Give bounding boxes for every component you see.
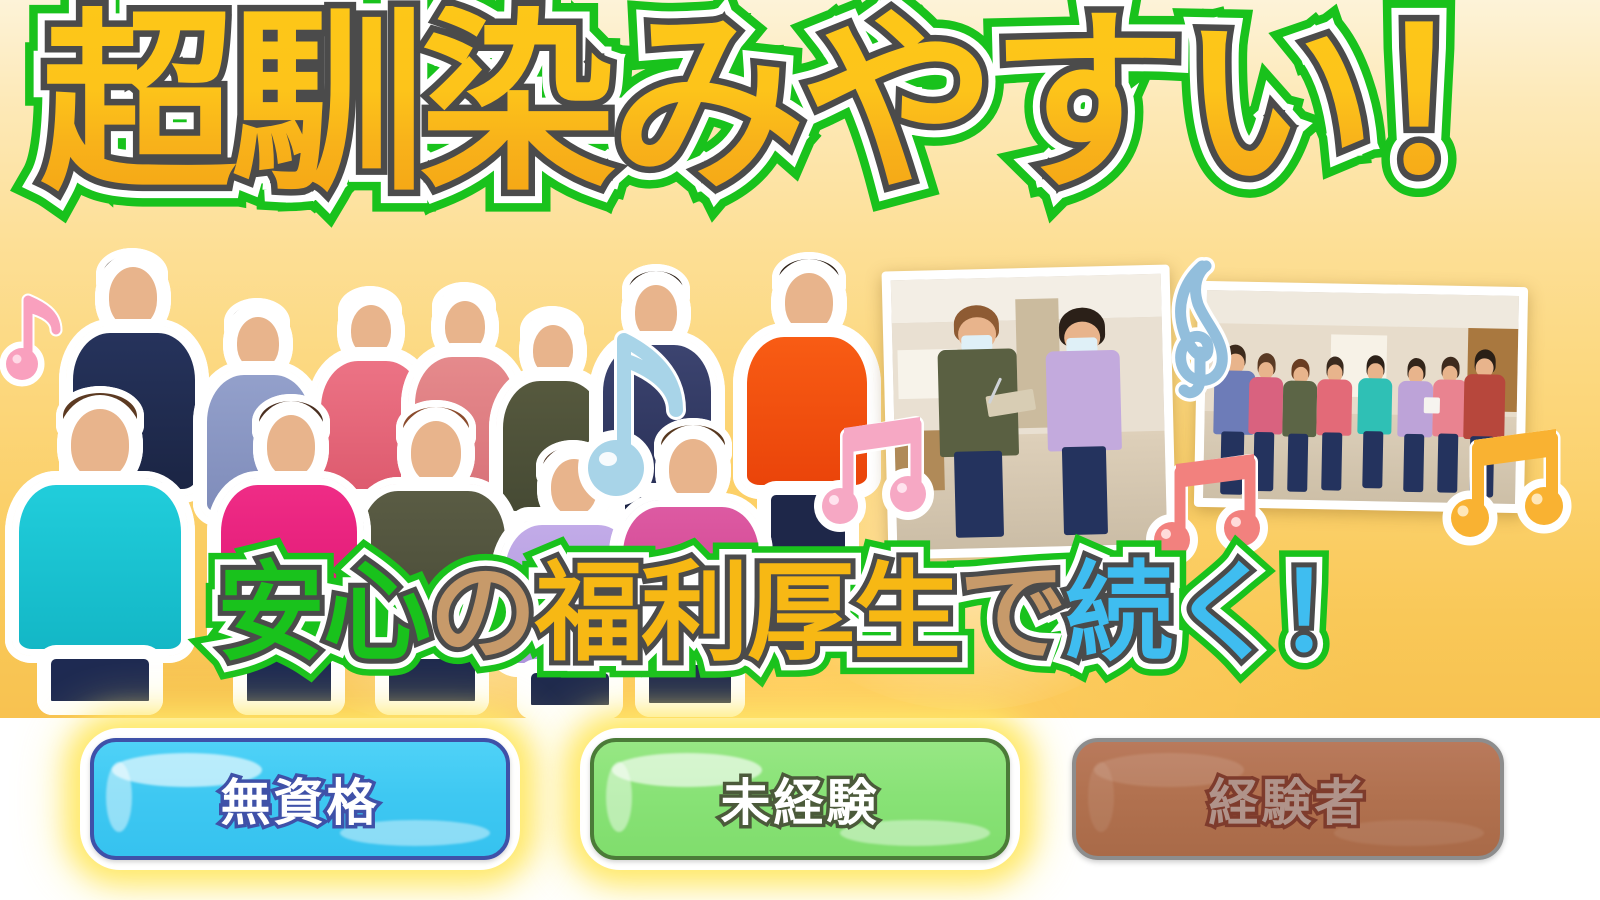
- head: [778, 266, 840, 338]
- top: [1282, 381, 1317, 438]
- staff-8-leader: [1462, 349, 1505, 497]
- head: [544, 452, 604, 522]
- staff-4: [1316, 357, 1353, 491]
- head: [404, 414, 468, 490]
- tag-no-experience-label: 未経験: [721, 763, 880, 835]
- trousers: [1437, 434, 1458, 492]
- button-gloss-left: [106, 762, 132, 832]
- head: [344, 298, 398, 362]
- staff-2: [1247, 353, 1284, 491]
- head: [438, 294, 492, 358]
- legs: [764, 488, 852, 556]
- trousers: [1062, 446, 1108, 535]
- trousers: [954, 451, 1004, 538]
- head: [662, 432, 724, 506]
- head: [526, 318, 580, 382]
- trousers: [1322, 433, 1343, 491]
- tag-experienced[interactable]: 経験者: [1072, 738, 1504, 860]
- head: [102, 260, 164, 334]
- head: [64, 402, 136, 486]
- page-subtitle: 安心の福利厚生で続く！ 安心の福利厚生で続く！ 安心の福利厚生で続く！ 安心の福…: [0, 560, 1600, 668]
- subtitle-seg-fukuri-kousei: 福利厚生: [535, 551, 959, 676]
- subtitle-text: 安心の福利厚生で続く！: [0, 560, 1600, 668]
- top: [1463, 374, 1505, 440]
- tag-no-experience[interactable]: 未経験: [590, 738, 1010, 860]
- tag-experienced-label: 経験者: [1209, 763, 1368, 835]
- trousers: [1253, 432, 1274, 491]
- photo-staff-meeting: [1194, 281, 1528, 513]
- tag-no-qualification-label: 無資格: [221, 763, 380, 835]
- trousers: [1469, 436, 1494, 497]
- photo-inner: [891, 274, 1168, 551]
- paper-sheet: [1424, 397, 1441, 414]
- trousers: [1403, 434, 1424, 492]
- button-gloss-left: [606, 762, 632, 832]
- page-headline: 超馴染みやすい！ 超馴染みやすい！ 超馴染みやすい！ 超馴染みやすい！: [0, 6, 1600, 202]
- tunic: [1045, 350, 1122, 452]
- subtitle-seg-de: で: [959, 551, 1065, 676]
- subtitle-seg-no: の: [429, 551, 535, 676]
- head: [230, 310, 286, 376]
- subtitle-seg-anshin: 安心: [217, 551, 429, 676]
- hero-section: 超馴染みやすい！ 超馴染みやすい！ 超馴染みやすい！ 超馴染みやすい！ 安心の福…: [0, 0, 1600, 718]
- tag-no-qualification[interactable]: 無資格: [90, 738, 510, 860]
- top: [1357, 378, 1392, 435]
- head: [260, 408, 322, 484]
- recruitment-banner: 超馴染みやすい！ 超馴染みやすい！ 超馴染みやすい！ 超馴染みやすい！ 安心の福…: [0, 0, 1600, 900]
- top: [1317, 379, 1352, 436]
- staff-5: [1356, 355, 1393, 489]
- trousers: [1220, 431, 1245, 494]
- staff-olive: [935, 304, 1027, 538]
- staff-lavender: [1043, 307, 1130, 536]
- button-gloss-left: [1088, 762, 1114, 832]
- staff-3: [1281, 358, 1318, 492]
- subtitle-seg-tsuzuku: 続く！: [1065, 551, 1383, 676]
- tag-button-bar: 無資格 未経験 経験者: [0, 718, 1600, 900]
- trousers: [1287, 434, 1308, 492]
- top: [1248, 377, 1283, 435]
- photo-clipboard-handover: [882, 265, 1177, 560]
- photo-inner: [1203, 290, 1519, 504]
- trousers: [1362, 431, 1383, 489]
- head: [628, 278, 684, 346]
- staff-6: [1397, 358, 1434, 492]
- headline-text: 超馴染みやすい！: [0, 6, 1600, 202]
